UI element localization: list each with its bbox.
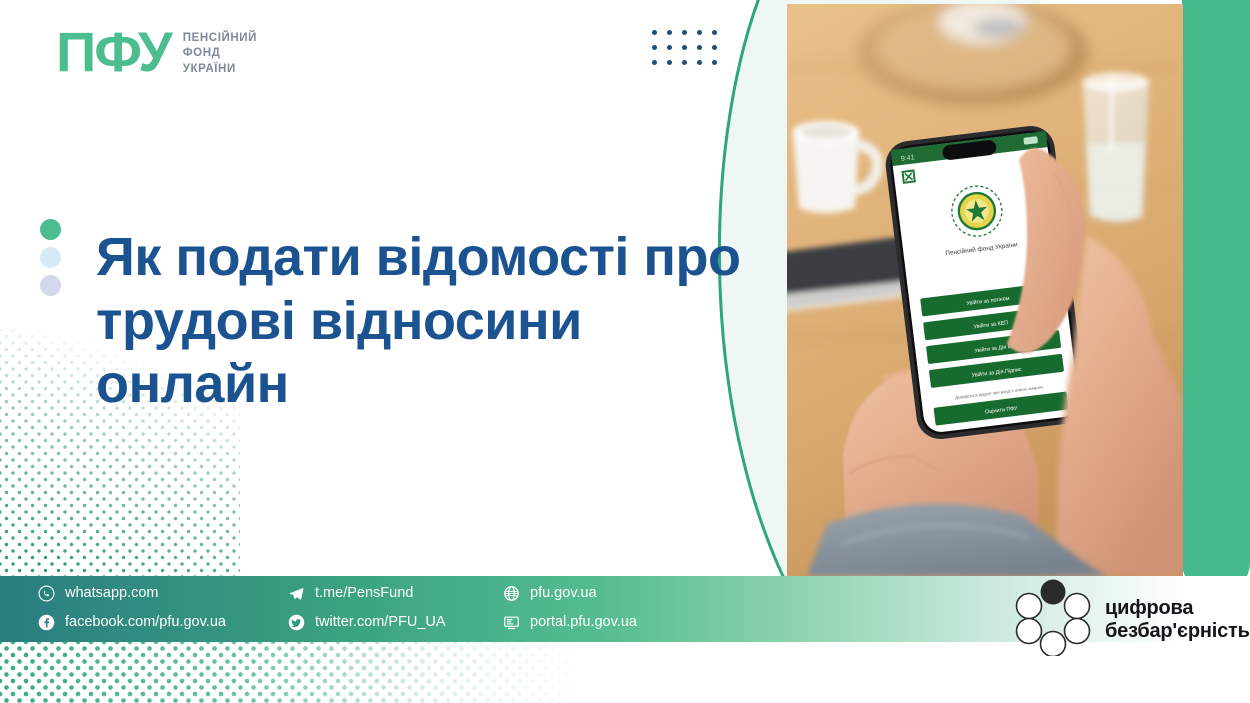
barrier-free-line-1: цифрова bbox=[1105, 597, 1250, 620]
grid-dot bbox=[712, 30, 717, 35]
six-circles-logo-icon bbox=[1014, 578, 1092, 661]
grid-dot bbox=[667, 60, 672, 65]
pfu-logo-wordmark: ПЕНСІЙНИЙ ФОНД УКРАЇНИ bbox=[183, 28, 257, 76]
barrier-free-logo[interactable]: цифрова безбар'єрність bbox=[1014, 578, 1250, 661]
brand-line-2: ФОНД bbox=[183, 46, 257, 60]
footer-link-portal[interactable]: portal.pfu.gov.ua bbox=[503, 612, 743, 632]
footer-link-label: whatsapp.com bbox=[65, 585, 159, 601]
whatsapp-icon bbox=[38, 585, 55, 602]
grid-dot bbox=[682, 45, 687, 50]
grid-dot bbox=[652, 30, 657, 35]
footer-links: whatsapp.com facebook.com/pfu.gov.ua t.m… bbox=[38, 583, 743, 632]
grid-dot bbox=[667, 30, 672, 35]
globe-icon bbox=[503, 585, 520, 602]
page-title-line-2: трудові відносини онлайн bbox=[96, 290, 756, 417]
grid-dot bbox=[682, 30, 687, 35]
dot-grid-decoration bbox=[652, 30, 727, 75]
twitter-icon bbox=[288, 614, 305, 631]
barrier-free-line-2: безбар'єрність bbox=[1105, 620, 1250, 643]
barrier-free-wordmark: цифрова безбар'єрність bbox=[1105, 597, 1250, 643]
grid-dot bbox=[712, 60, 717, 65]
footer-link-label: portal.pfu.gov.ua bbox=[530, 614, 637, 630]
accent-dot-lavender bbox=[40, 275, 61, 296]
brand-line-1: ПЕНСІЙНИЙ bbox=[183, 31, 257, 45]
accent-dot-blue bbox=[40, 247, 61, 268]
poster-canvas: ПФУ ПЕНСІЙНИЙ ФОНД УКРАЇНИ Як подати від… bbox=[0, 0, 1250, 703]
brand-line-3: УКРАЇНИ bbox=[183, 62, 257, 76]
grid-dot bbox=[697, 30, 702, 35]
footer-link-label: twitter.com/PFU_UA bbox=[315, 614, 446, 630]
page-title-line-1: Як подати відомості про bbox=[96, 226, 756, 290]
portal-icon bbox=[503, 614, 520, 631]
grid-dot bbox=[682, 60, 687, 65]
footer-column-web: pfu.gov.ua portal.pfu.gov.ua bbox=[503, 583, 743, 632]
grid-dot bbox=[712, 45, 717, 50]
pfu-logo-mark: ПФУ bbox=[56, 24, 171, 80]
footer-column-messaging: t.me/PensFund twitter.com/PFU_UA bbox=[288, 583, 503, 632]
footer-link-twitter[interactable]: twitter.com/PFU_UA bbox=[288, 612, 503, 632]
footer-link-website[interactable]: pfu.gov.ua bbox=[503, 583, 743, 603]
accent-dots bbox=[40, 219, 61, 296]
pfu-logo[interactable]: ПФУ ПЕНСІЙНИЙ ФОНД УКРАЇНИ bbox=[56, 24, 257, 80]
grid-dot bbox=[697, 60, 702, 65]
facebook-icon bbox=[38, 614, 55, 631]
footer-link-label: facebook.com/pfu.gov.ua bbox=[65, 614, 226, 630]
footer-link-label: pfu.gov.ua bbox=[530, 585, 597, 601]
footer-column-social: whatsapp.com facebook.com/pfu.gov.ua bbox=[38, 583, 288, 632]
grid-dot bbox=[652, 45, 657, 50]
grid-dot bbox=[667, 45, 672, 50]
page-title: Як подати відомості про трудові відносин… bbox=[96, 226, 756, 417]
footer-link-label: t.me/PensFund bbox=[315, 585, 413, 601]
halftone-pattern-bottom bbox=[0, 642, 620, 703]
accent-dot-green bbox=[40, 219, 61, 240]
telegram-icon bbox=[288, 585, 305, 602]
footer-link-facebook[interactable]: facebook.com/pfu.gov.ua bbox=[38, 612, 288, 632]
footer-link-whatsapp[interactable]: whatsapp.com bbox=[38, 583, 288, 603]
grid-dot bbox=[652, 60, 657, 65]
green-side-band bbox=[1182, 0, 1250, 596]
grid-dot bbox=[697, 45, 702, 50]
footer-link-telegram[interactable]: t.me/PensFund bbox=[288, 583, 503, 603]
hero-photo: 9:41 ? bbox=[787, 4, 1183, 576]
